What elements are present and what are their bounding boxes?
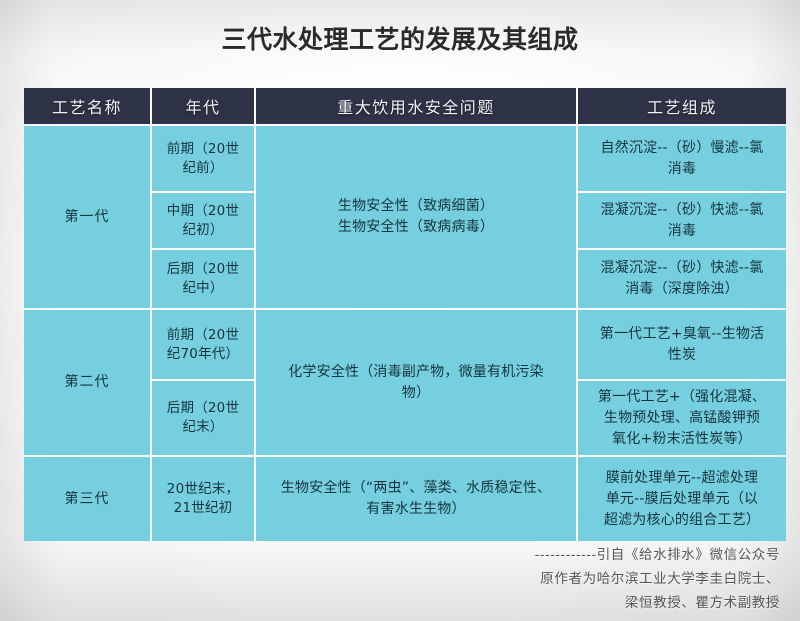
table-header: 工艺名称 年代 重大饮用水安全问题 工艺组成 — [24, 88, 786, 124]
cell-era: 20世纪末，21世纪初 — [152, 457, 254, 541]
cell-era: 后期（20世纪中） — [152, 250, 254, 308]
cell-process-makeup: 膜前处理单元--超滤处理单元--膜后处理单元（以超滤为核心的组合工艺） — [578, 457, 786, 541]
cell-process-makeup: 第一代工艺+（强化混凝、生物预处理、高锰酸钾预氧化+粉末活性炭等） — [578, 381, 786, 455]
credit-line-authors-cont: 梁恒教授、瞿方术副教授 — [360, 591, 780, 615]
credit-line-source: ------------引自《给水排水》微信公众号 — [360, 543, 780, 567]
cell-process-makeup: 混凝沉淀--（砂）快滤--氯消毒（深度除浊） — [578, 250, 786, 308]
cell-generation-name: 第二代 — [24, 310, 150, 455]
cell-generation-name: 第一代 — [24, 126, 150, 308]
source-credit: ------------引自《给水排水》微信公众号 原作者为哈尔滨工业大学李圭白… — [360, 543, 780, 615]
process-comparison-table: 工艺名称 年代 重大饮用水安全问题 工艺组成 第一代 前期（20世纪前） 生物安… — [22, 86, 788, 543]
table-row: 第三代 20世纪末，21世纪初 生物安全性（“两虫”、藻类、水质稳定性、有害水生… — [24, 457, 786, 541]
cell-safety-issue: 生物安全性（致病细菌）生物安全性（致病病毒） — [256, 126, 576, 308]
column-header-process-makeup: 工艺组成 — [578, 88, 786, 124]
page-title: 三代水处理工艺的发展及其组成 — [0, 23, 800, 57]
cell-era: 前期（20世纪70年代） — [152, 310, 254, 379]
cell-era: 后期（20世纪末） — [152, 381, 254, 455]
cell-era: 中期（20世纪初） — [152, 193, 254, 248]
column-header-era: 年代 — [152, 88, 254, 124]
table-row: 第一代 前期（20世纪前） 生物安全性（致病细菌）生物安全性（致病病毒） 自然沉… — [24, 126, 786, 191]
table-body: 第一代 前期（20世纪前） 生物安全性（致病细菌）生物安全性（致病病毒） 自然沉… — [24, 126, 786, 541]
column-header-process-name: 工艺名称 — [24, 88, 150, 124]
cell-generation-name: 第三代 — [24, 457, 150, 541]
cell-process-makeup: 第一代工艺+臭氧--生物活性炭 — [578, 310, 786, 379]
cell-era: 前期（20世纪前） — [152, 126, 254, 191]
credit-line-authors: 原作者为哈尔滨工业大学李圭白院士、 — [360, 567, 780, 591]
cell-process-makeup: 自然沉淀--（砂）慢滤--氯消毒 — [578, 126, 786, 191]
cell-process-makeup: 混凝沉淀--（砂）快滤--氯消毒 — [578, 193, 786, 248]
cell-safety-issue: 化学安全性（消毒副产物，微量有机污染物） — [256, 310, 576, 455]
column-header-safety-issue: 重大饮用水安全问题 — [256, 88, 576, 124]
process-comparison-table-container: 工艺名称 年代 重大饮用水安全问题 工艺组成 第一代 前期（20世纪前） 生物安… — [22, 86, 782, 543]
table-header-row: 工艺名称 年代 重大饮用水安全问题 工艺组成 — [24, 88, 786, 124]
cell-safety-issue: 生物安全性（“两虫”、藻类、水质稳定性、有害水生生物） — [256, 457, 576, 541]
table-row: 第二代 前期（20世纪70年代） 化学安全性（消毒副产物，微量有机污染物） 第一… — [24, 310, 786, 379]
slide-root: 三代水处理工艺的发展及其组成 工艺名称 年代 重大饮用水安全问题 工艺组成 — [0, 0, 800, 621]
